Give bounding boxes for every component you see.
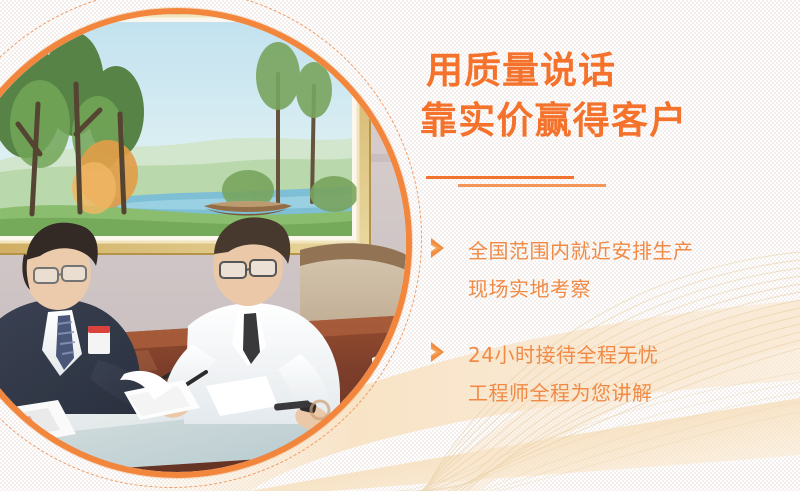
meeting-photo-illustration xyxy=(0,14,406,472)
bullet-list: 全国范围内就近安排生产 现场实地考察 24小时接待全程无忧 工程师全程为您讲解 xyxy=(420,232,800,440)
content-panel: 用质量说话 靠实价赢得客户 全国范围内就近安排生产 现场实地考察 xyxy=(420,0,800,491)
list-item-line-2: 工程师全程为您讲解 xyxy=(468,374,800,412)
chevron-right-icon xyxy=(428,236,450,260)
list-item: 24小时接待全程无忧 工程师全程为您讲解 xyxy=(420,336,800,412)
list-item-line-2: 现场实地考察 xyxy=(468,270,800,308)
divider-rule-bottom xyxy=(458,184,606,187)
divider-rule-top xyxy=(426,176,574,179)
headline-block: 用质量说话 靠实价赢得客户 xyxy=(426,46,800,147)
chevron-right-icon xyxy=(428,340,450,364)
headline-line-1: 用质量说话 xyxy=(426,46,800,96)
list-item: 全国范围内就近安排生产 现场实地考察 xyxy=(420,232,800,308)
list-item-line-1: 全国范围内就近安排生产 xyxy=(468,232,800,270)
headline-line-2: 靠实价赢得客户 xyxy=(420,96,800,146)
promotional-banner: 用质量说话 靠实价赢得客户 全国范围内就近安排生产 现场实地考察 xyxy=(0,0,800,491)
divider xyxy=(426,176,626,192)
photo-circle-frame xyxy=(0,8,412,478)
list-item-line-1: 24小时接待全程无忧 xyxy=(468,336,800,374)
meeting-photo xyxy=(0,14,406,472)
